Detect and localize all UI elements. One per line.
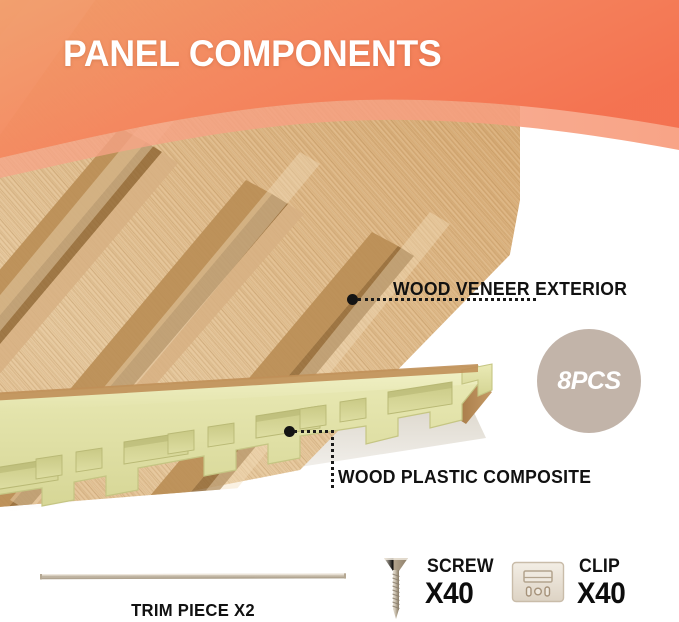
accessory-screw-name: SCREW xyxy=(427,556,494,578)
accessories-row: TRIM PIECE X2 xyxy=(0,540,679,622)
quantity-badge: 8PCS xyxy=(537,329,641,433)
callout-leader-wpc-horizontal xyxy=(294,430,334,436)
accessory-clip-name: CLIP xyxy=(579,556,620,578)
clip-icon xyxy=(511,560,565,604)
callout-dot-veneer xyxy=(347,294,358,305)
infographic-canvas: PANEL COMPONENTS WOOD VENEER EXTERIOR WO… xyxy=(0,0,679,622)
panel-illustration xyxy=(0,0,679,540)
accessory-clip-count: X40 xyxy=(577,577,625,611)
accessory-clip: CLIP X40 xyxy=(511,550,671,622)
trim-bar-icon xyxy=(40,572,346,581)
callout-label-wood-veneer-exterior: WOOD VENEER EXTERIOR xyxy=(393,278,627,300)
screw-icon xyxy=(381,555,411,621)
accessory-screw: SCREW X40 xyxy=(381,550,499,622)
callout-leader-wpc-vertical xyxy=(331,430,337,488)
accessory-screw-count: X40 xyxy=(425,577,473,611)
panel-product-image xyxy=(0,0,679,540)
accessory-trim: TRIM PIECE X2 xyxy=(28,562,358,622)
accessory-trim-label: TRIM PIECE X2 xyxy=(36,600,350,621)
callout-label-wood-plastic-composite: WOOD PLASTIC COMPOSITE xyxy=(338,466,591,488)
quantity-badge-text: 8PCS xyxy=(537,329,641,433)
